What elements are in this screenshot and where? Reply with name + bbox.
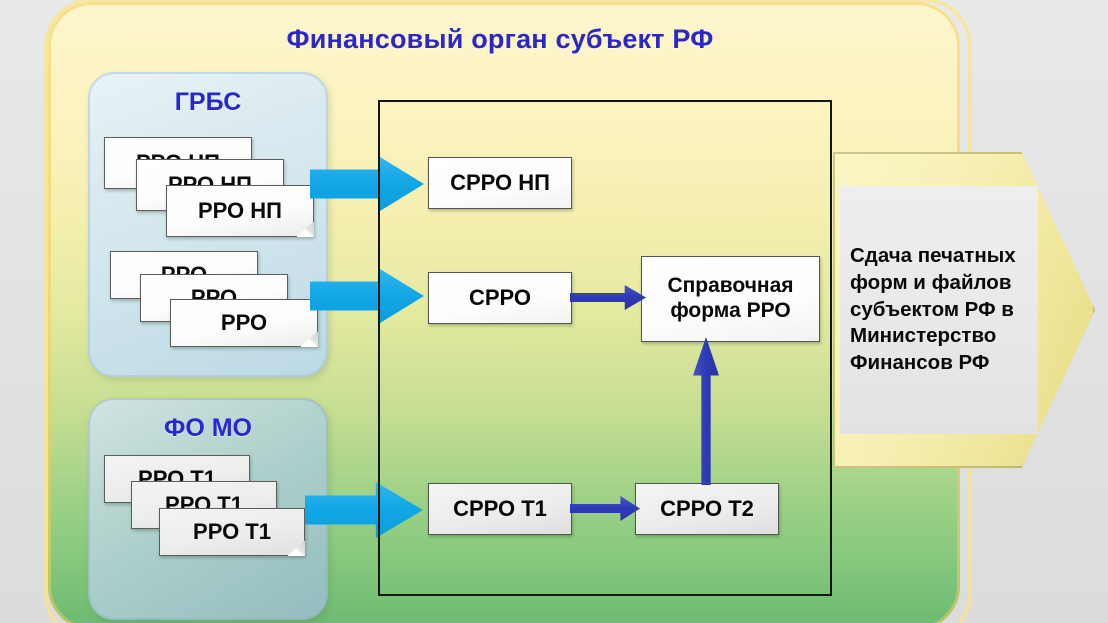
doc-card-rro-t1-3[interactable]: РРО Т1 (159, 508, 305, 556)
box-label: СРРО Т1 (453, 496, 547, 522)
doc-card-label: РРО НП (198, 198, 282, 224)
box-label: СРРО НП (450, 170, 550, 196)
box-srro-t2[interactable]: СРРО Т2 (635, 483, 779, 535)
banner-box: Сдача печатных форм и файлов субъектом Р… (840, 186, 1038, 434)
page-title: Финансовый орган субъект РФ (200, 24, 800, 55)
page-fold-icon (287, 540, 305, 556)
panel-fomo-heading: ФО МО (88, 414, 328, 443)
doc-card-rro-3[interactable]: РРО (170, 299, 318, 347)
box-label: СРРО Т2 (660, 496, 754, 522)
diagram-canvas: Финансовый орган субъект РФ ГРБС РРО НП … (0, 0, 1108, 623)
box-srro-np[interactable]: СРРО НП (428, 157, 572, 209)
doc-card-label: РРО Т1 (193, 519, 271, 545)
banner-text: Сдача печатных форм и файлов субъектом Р… (850, 243, 1038, 376)
box-srro-t1[interactable]: СРРО Т1 (428, 483, 572, 535)
box-label-line2: форма РРО (670, 299, 790, 324)
box-label-line1: Справочная (667, 274, 793, 299)
page-fold-icon (296, 221, 314, 237)
box-label: СРРО (469, 285, 531, 311)
doc-card-rro-np-3[interactable]: РРО НП (166, 185, 314, 237)
panel-grbs-heading: ГРБС (88, 88, 328, 117)
doc-card-label: РРО (221, 310, 267, 336)
box-spravochnaya-forma-rro[interactable]: Справочная форма РРО (641, 256, 820, 342)
box-srro[interactable]: СРРО (428, 272, 572, 324)
page-fold-icon (300, 331, 318, 347)
